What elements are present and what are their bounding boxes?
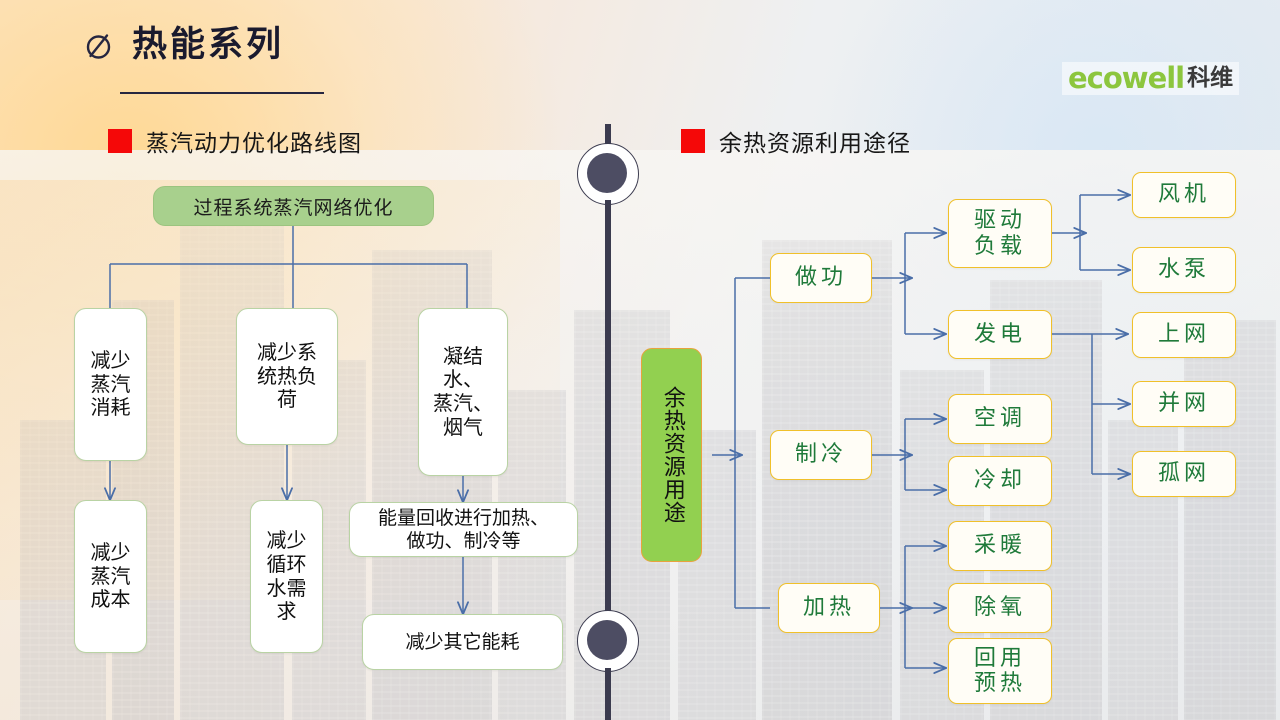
left-node-label: 凝结水、蒸汽、烟气 [433,345,493,439]
left-node-energy-recovery[interactable]: 能量回收进行加热、做功、制冷等 [349,502,578,557]
right-node-label: 采暖 [974,533,1026,558]
right-node-fan[interactable]: 风机 [1132,172,1236,218]
left-node-label: 减少蒸汽消耗 [91,349,131,420]
right-node-heating[interactable]: 加热 [778,583,880,633]
right-node-label: 回用预热 [974,646,1026,697]
timeline-node-bottom[interactable] [577,610,639,672]
right-node-label: 孤网 [1158,461,1210,486]
left-node-reduce-system-heat-load[interactable]: 减少系统热负荷 [236,308,338,445]
right-node-space-heating[interactable]: 采暖 [948,521,1052,571]
right-node-label: 除氧 [974,595,1026,620]
right-node-power-generation[interactable]: 发电 [948,310,1052,359]
right-node-water-pump[interactable]: 水泵 [1132,247,1236,293]
left-flow-head[interactable]: 过程系统蒸汽网络优化 [153,186,434,226]
right-node-label: 并网 [1158,391,1210,416]
slide-canvas: 热能系列 ecowell 科维 蒸汽动力优化路线图 余热资源利用途径 [0,0,1280,720]
right-node-work-output[interactable]: 做功 [770,253,872,303]
right-node-label: 冷却 [974,468,1026,493]
right-node-label: 风机 [1158,182,1210,207]
left-node-label: 减少其它能耗 [405,631,519,653]
left-node-reduce-other-energy[interactable]: 减少其它能耗 [362,614,563,670]
right-node-label: 发电 [974,322,1026,347]
left-node-reduce-cooling-water[interactable]: 减少循环水需求 [250,500,323,653]
right-node-islanded-grid[interactable]: 孤网 [1132,451,1236,497]
right-node-air-conditioning[interactable]: 空调 [948,394,1052,444]
left-node-reduce-steam-consumption[interactable]: 减少蒸汽消耗 [74,308,147,461]
timeline-segment-middle [605,200,611,612]
right-node-label: 制冷 [795,442,847,467]
left-node-label: 能量回收进行加热、做功、制冷等 [378,507,549,552]
right-node-drive-load[interactable]: 驱动负载 [948,199,1052,268]
left-node-label: 减少系统热负荷 [257,341,317,412]
timeline-node-top[interactable] [577,143,639,205]
right-node-label: 驱动负载 [974,208,1026,259]
right-node-label: 空调 [974,406,1026,431]
right-node-label: 加热 [803,595,855,620]
left-flow-head-label: 过程系统蒸汽网络优化 [193,193,393,220]
right-node-label: 上网 [1158,322,1210,347]
right-node-label: 做功 [795,265,847,290]
left-node-label: 减少循环水需求 [267,529,307,623]
connector-wires [0,0,1280,720]
center-hub-label: 余热资源用途 [659,386,684,524]
right-node-refrigeration[interactable]: 制冷 [770,430,872,480]
left-node-reduce-steam-cost[interactable]: 减少蒸汽成本 [74,500,147,653]
right-node-grid-connected[interactable]: 并网 [1132,381,1236,427]
timeline-segment-bottom [605,668,611,720]
right-node-grid-export[interactable]: 上网 [1132,312,1236,358]
left-node-label: 减少蒸汽成本 [91,541,131,612]
center-hub-waste-heat-uses[interactable]: 余热资源用途 [641,348,702,562]
left-node-condensate-steam-fluegas[interactable]: 凝结水、蒸汽、烟气 [418,308,508,476]
right-node-deaeration[interactable]: 除氧 [948,583,1052,633]
right-node-cooling[interactable]: 冷却 [948,456,1052,506]
right-node-reuse-preheat[interactable]: 回用预热 [948,638,1052,704]
right-node-label: 水泵 [1158,257,1210,282]
